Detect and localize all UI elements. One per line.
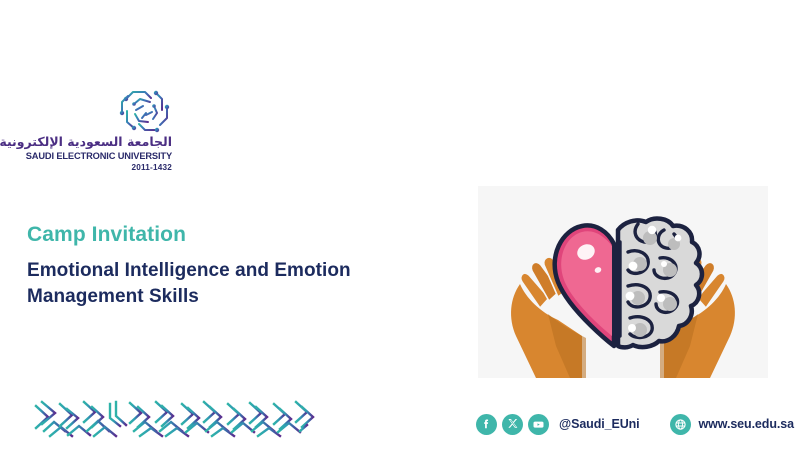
circuit-maze-pattern-icon (34, 398, 322, 440)
logo-founding-years: 2011-1432 (12, 163, 172, 172)
page-title: Emotional Intelligence and Emotion Manag… (27, 258, 427, 310)
footer-social-bar: @Saudi_EUni www.seu.edu.sa (476, 409, 794, 439)
x-twitter-icon[interactable] (502, 414, 523, 435)
logo-english-name: SAUDI ELECTRONIC UNIVERSITY (12, 151, 172, 162)
page-title-line-1: Emotional Intelligence and Emotion (27, 258, 427, 284)
social-handle: @Saudi_EUni (559, 417, 640, 431)
logo-arabic-name: الجامعة السعودية الإلكترونية (12, 134, 172, 149)
slide-canvas: { "brand": { "logo_mark_name": "seu-circ… (0, 0, 800, 450)
youtube-icon[interactable] (528, 414, 549, 435)
website-url: www.seu.edu.sa (699, 417, 794, 431)
globe-icon[interactable] (670, 414, 691, 435)
facebook-icon[interactable] (476, 414, 497, 435)
page-title-line-2: Management Skills (27, 284, 427, 310)
seu-circuit-hexagon-logo-icon (112, 82, 180, 138)
heart-brain-in-hands-illustration (478, 186, 768, 378)
university-logo: الجامعة السعودية الإلكترونية SAUDI ELECT… (12, 82, 182, 178)
camp-invitation-kicker: Camp Invitation (27, 223, 186, 247)
